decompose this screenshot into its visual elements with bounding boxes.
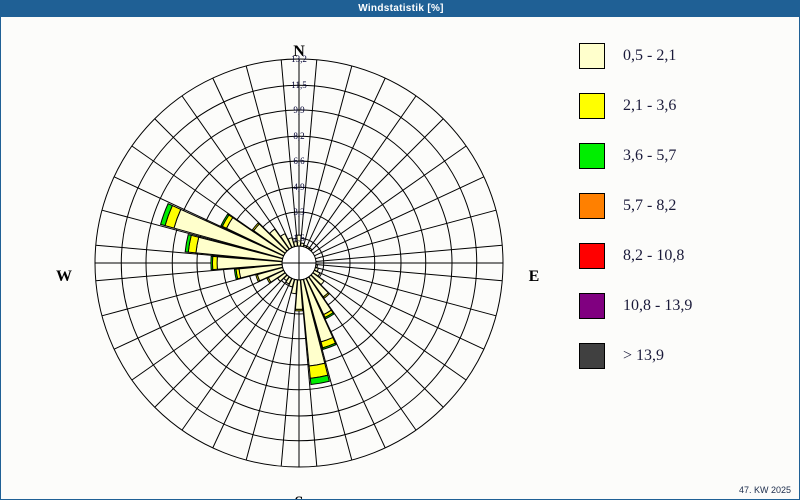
legend-item-label: 3,6 - 5,7: [623, 147, 676, 165]
legend: 0,5 - 2,12,1 - 3,63,6 - 5,75,7 - 8,28,2 …: [579, 31, 794, 381]
legend-item-label: 0,5 - 2,1: [623, 47, 676, 65]
legend-item: > 13,9: [579, 331, 794, 381]
radial-tick-label: 8,2: [279, 131, 319, 141]
legend-item: 10,8 - 13,9: [579, 281, 794, 331]
week-label: 47. KW 2025: [739, 485, 791, 495]
windrose-window: Windstatistik [%] N S W E 1,63,34,96,68,…: [0, 0, 800, 500]
windrose-petal-segment: [295, 309, 302, 311]
legend-item-label: 8,2 - 10,8: [623, 247, 684, 265]
legend-color-swatch: [579, 143, 605, 169]
legend-color-swatch: [579, 243, 605, 269]
compass-label-east: E: [519, 268, 549, 286]
radial-tick-label: 1,6: [279, 233, 319, 243]
legend-item: 2,1 - 3,6: [579, 81, 794, 131]
legend-color-swatch: [579, 343, 605, 369]
radial-tick-label: 13,2: [279, 54, 319, 64]
radial-tick-label: 6,6: [279, 156, 319, 166]
legend-item-label: 10,8 - 13,9: [623, 297, 692, 315]
legend-item-label: 2,1 - 3,6: [623, 97, 676, 115]
window-titlebar: Windstatistik [%]: [1, 1, 800, 17]
legend-item-label: > 13,9: [623, 347, 664, 365]
legend-item: 8,2 - 10,8: [579, 231, 794, 281]
windrose-petal-segment: [212, 256, 217, 269]
legend-item-label: 5,7 - 8,2: [623, 197, 676, 215]
legend-color-swatch: [579, 93, 605, 119]
windrose-petal-segment: [211, 256, 213, 270]
radial-tick-label: 4,9: [279, 182, 319, 192]
compass-label-south: S: [284, 494, 314, 500]
polar-grid: [95, 59, 503, 467]
radial-tick-label: 11,5: [279, 80, 319, 90]
legend-item: 0,5 - 2,1: [579, 31, 794, 81]
legend-color-swatch: [579, 293, 605, 319]
legend-color-swatch: [579, 43, 605, 69]
legend-color-swatch: [579, 193, 605, 219]
compass-label-west: W: [49, 268, 79, 286]
window-title: Windstatistik [%]: [358, 3, 444, 14]
windrose-petals: [161, 204, 336, 385]
radial-tick-label: 3,3: [279, 207, 319, 217]
legend-item: 5,7 - 8,2: [579, 181, 794, 231]
radial-tick-label: 9,9: [279, 105, 319, 115]
windrose-plot: N S W E 1,63,34,96,68,29,911,513,2: [1, 17, 561, 500]
legend-item: 3,6 - 5,7: [579, 131, 794, 181]
